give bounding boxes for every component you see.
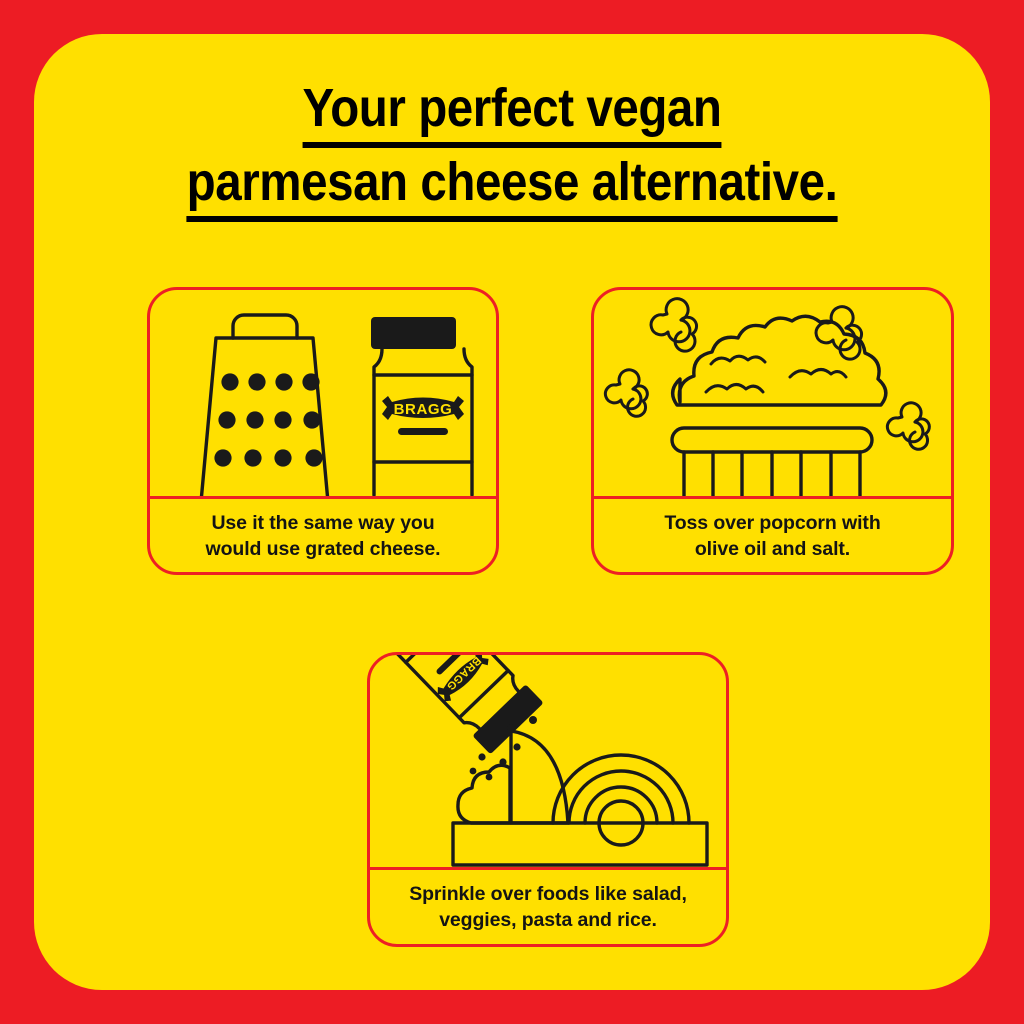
popcorn-kernel-icon-3 (605, 370, 647, 416)
caption-line-1: Sprinkle over foods like salad, (409, 883, 687, 905)
headline-line-1-text: Your perfect vegan (302, 78, 721, 148)
tilted-bragg-bottle-icon: BRAGG (383, 655, 543, 754)
caption-line-2: veggies, pasta and rice. (439, 909, 657, 931)
panel-grater-and-shaker: BRAGG Use it the same way you would use … (147, 287, 499, 575)
caption-line-2: would use grated cheese. (206, 538, 441, 560)
plate-base-icon (453, 823, 707, 865)
salad-cloud-icon (458, 765, 510, 823)
grater-and-bragg-bottle-illustration: BRAGG (150, 290, 496, 499)
caption-line-1: Use it the same way you (211, 512, 434, 534)
popcorn-kernel-icon-4 (887, 403, 929, 449)
poster-canvas: Your perfect vegan parmesan cheese alter… (0, 0, 1024, 1024)
panel-caption: Toss over popcorn with olive oil and sal… (594, 499, 951, 572)
popcorn-bucket-illustration (594, 290, 951, 499)
bragg-bottle-icon: BRAGG (371, 317, 472, 495)
pasta-swirl-icon (553, 755, 689, 845)
svg-text:BRAGG: BRAGG (394, 401, 453, 418)
panel-caption: Sprinkle over foods like salad, veggies,… (370, 870, 726, 944)
popcorn-kernel-icon-2 (816, 307, 861, 359)
headline-line-2: parmesan cheese alternative. (91, 152, 932, 222)
bragg-logo: BRAGG (382, 396, 464, 420)
page-title: Your perfect vegan parmesan cheese alter… (34, 78, 990, 222)
headline-line-1: Your perfect vegan (91, 78, 932, 148)
caption-line-2: olive oil and salt. (695, 538, 850, 560)
caption-line-1: Toss over popcorn with (664, 512, 880, 534)
panel-popcorn: Toss over popcorn with olive oil and sal… (591, 287, 954, 575)
yellow-card: Your perfect vegan parmesan cheese alter… (34, 34, 990, 990)
headline-line-2-text: parmesan cheese alternative. (187, 152, 838, 222)
shaker-sprinkling-over-plate-illustration: BRAGG (370, 655, 726, 870)
panel-sprinkle-foods: BRAGG (367, 652, 729, 947)
box-grater-icon (201, 315, 328, 496)
popcorn-pile-icon (673, 316, 886, 405)
popcorn-bucket-icon (672, 428, 872, 496)
panel-caption: Use it the same way you would use grated… (150, 499, 496, 572)
popcorn-kernel-icon-1 (651, 299, 696, 351)
